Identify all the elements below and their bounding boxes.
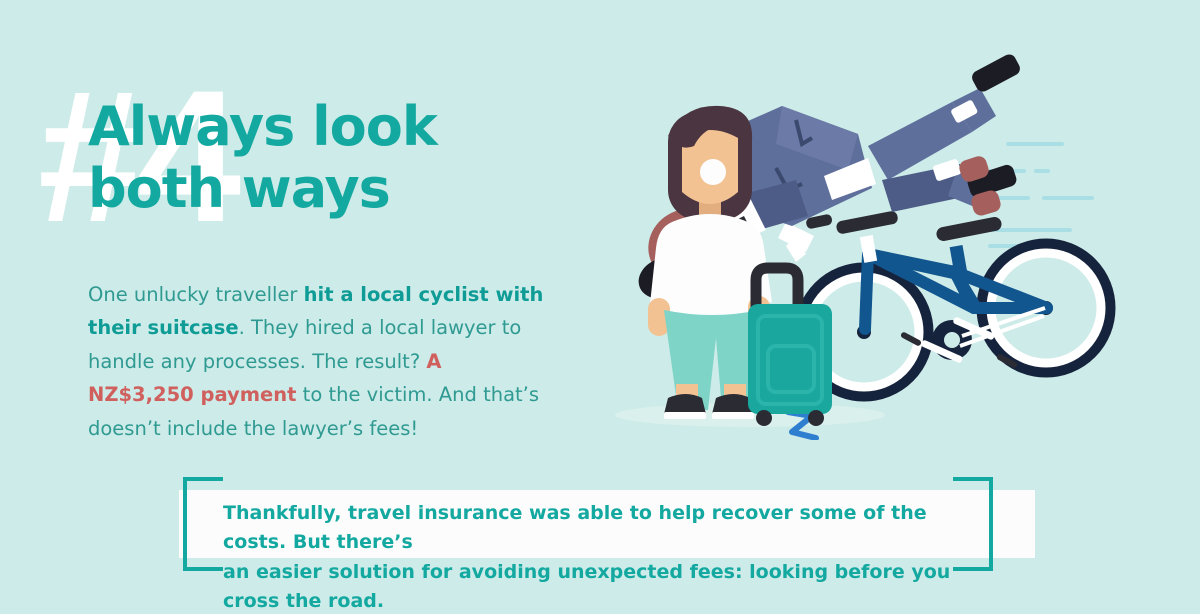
motion-lines-icon	[982, 144, 1092, 246]
banner-text: Thankfully, travel insurance was able to…	[223, 499, 983, 614]
banner-line-1: Thankfully, travel insurance was able to…	[223, 499, 983, 558]
illustration-scene	[600, 40, 1120, 440]
body-paragraph: One unlucky traveller hit a local cyclis…	[88, 278, 550, 446]
page-title: Always look both ways	[88, 96, 437, 219]
body-segment-1: One unlucky traveller	[88, 283, 304, 306]
headline-line-1: Always look	[88, 96, 437, 158]
bicycle-illustration	[800, 210, 1110, 396]
cyclist-shoe-1	[970, 52, 1023, 94]
woman-face-accent	[700, 159, 726, 185]
bracket-left-icon	[183, 477, 223, 571]
suitcase-wheel-right	[808, 410, 824, 426]
summary-banner: Thankfully, travel insurance was able to…	[163, 477, 1035, 571]
infographic-canvas: #4 Always look both ways One unlucky tra…	[0, 0, 1200, 614]
headline-line-2: both ways	[88, 158, 437, 220]
banner-line-2: an easier solution for avoiding unexpect…	[223, 558, 983, 614]
suitcase-wheel-left	[756, 410, 772, 426]
